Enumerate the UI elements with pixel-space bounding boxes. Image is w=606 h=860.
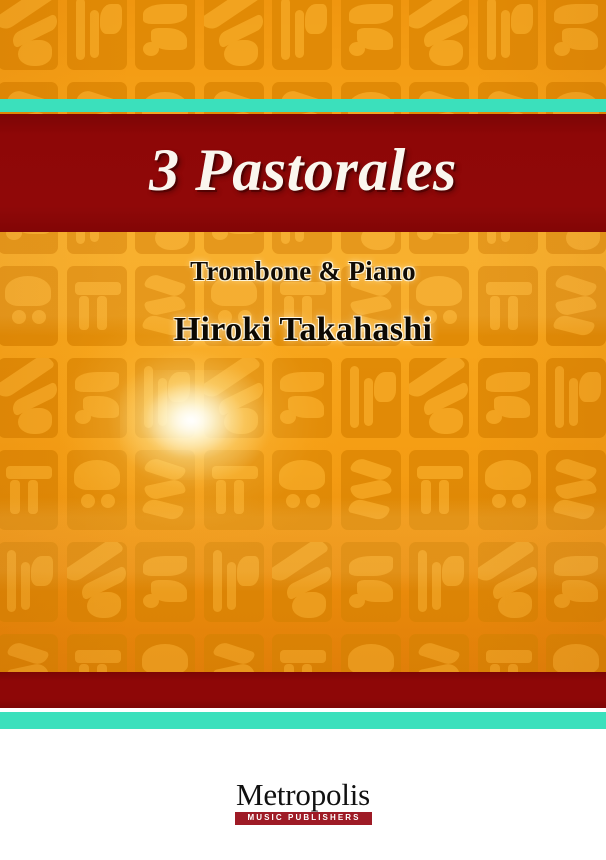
tile-motif — [478, 542, 538, 622]
tile-motif — [135, 358, 195, 438]
tile-motif — [341, 358, 401, 438]
tile-motif — [341, 450, 401, 530]
tile-motif — [409, 542, 469, 622]
tile-motif — [135, 0, 195, 70]
tile-motif — [272, 450, 332, 530]
tile-motif — [546, 0, 606, 70]
tile-motif — [272, 358, 332, 438]
tile-motif — [546, 358, 606, 438]
red-band-bottom — [0, 672, 606, 708]
tile-motif — [272, 542, 332, 622]
instrumentation-label: Trombone & Piano — [0, 254, 606, 288]
tile-motif — [0, 450, 58, 530]
tile-motif — [204, 542, 264, 622]
tile-motif — [67, 542, 127, 622]
tile-motif — [341, 0, 401, 70]
tile-motif — [204, 634, 264, 672]
tile-motif — [341, 542, 401, 622]
publisher-logo: Metropolis MUSIC PUBLISHERS — [0, 778, 606, 825]
teal-stripe-top — [0, 99, 606, 112]
tile-motif — [478, 634, 538, 672]
tile-motif — [409, 0, 469, 70]
tile-motif — [67, 0, 127, 70]
tile-motif — [0, 542, 58, 622]
tile-motif — [0, 0, 58, 70]
tile-motif — [546, 450, 606, 530]
page-title: 3 Pastorales — [0, 133, 606, 207]
tile-motif — [341, 634, 401, 672]
tile-motif — [272, 0, 332, 70]
publisher-name: Metropolis — [235, 778, 372, 811]
tile-motif — [478, 0, 538, 70]
publisher-tagline-bar: MUSIC PUBLISHERS — [235, 812, 372, 825]
tile-motif — [409, 634, 469, 672]
tile-motif — [478, 358, 538, 438]
tile-motif — [135, 450, 195, 530]
tile-motif — [409, 358, 469, 438]
tile-motif — [0, 358, 58, 438]
tile-motif — [204, 0, 264, 70]
publisher-logo-inner: Metropolis MUSIC PUBLISHERS — [235, 778, 372, 825]
tile-motif — [546, 634, 606, 672]
tile-motif — [272, 634, 332, 672]
tile-motif — [204, 450, 264, 530]
composer-name: Hiroki Takahashi — [0, 309, 606, 351]
tile-motif — [67, 358, 127, 438]
tile-motif — [135, 634, 195, 672]
teal-stripe-bottom — [0, 712, 606, 729]
tile-motif — [0, 634, 58, 672]
tile-motif — [67, 634, 127, 672]
tile-motif — [478, 450, 538, 530]
tile-motif — [135, 542, 195, 622]
tile-motif — [546, 542, 606, 622]
tile-motif — [204, 358, 264, 438]
tile-motif — [409, 450, 469, 530]
tile-motif — [67, 450, 127, 530]
sheet-music-cover: 3 Pastorales Trombone & Piano Hiroki Tak… — [0, 0, 606, 860]
publisher-tagline: MUSIC PUBLISHERS — [235, 814, 372, 822]
